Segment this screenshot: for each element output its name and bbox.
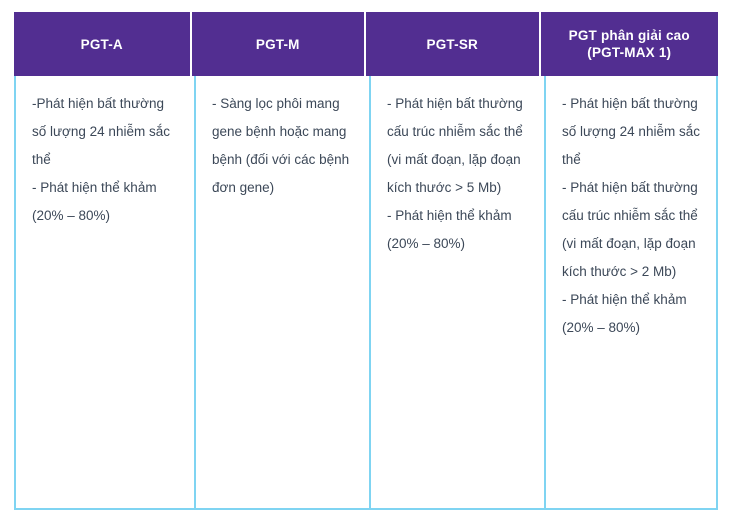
cell-text-pgt-m: - Sàng lọc phôi mang gene bệnh hoặc mang…: [212, 90, 353, 202]
table-cell-pgt-sr-description: - Phát hiện bất thường cấu trúc nhiễm sắ…: [369, 76, 544, 508]
header-label-pgt-sr: PGT-SR: [427, 36, 478, 53]
table-header-cell-pgt-a: PGT-A: [14, 12, 190, 76]
table-cell-pgt-m-description: - Sàng lọc phôi mang gene bệnh hoặc mang…: [194, 76, 369, 508]
table-cell-pgt-a-description: -Phát hiện bất thường số lượng 24 nhiễm …: [16, 76, 194, 508]
table-header-cell-pgt-max: PGT phân giải cao (PGT-MAX 1): [541, 12, 718, 76]
table-body-row: -Phát hiện bất thường số lượng 24 nhiễm …: [14, 76, 718, 510]
cell-text-pgt-max: - Phát hiện bất thường số lượng 24 nhiễm…: [562, 90, 700, 342]
header-label-pgt-max: PGT phân giải cao (PGT-MAX 1): [569, 27, 690, 61]
table-header-cell-pgt-sr: PGT-SR: [366, 12, 539, 76]
table-cell-pgt-max-description: - Phát hiện bất thường số lượng 24 nhiễm…: [544, 76, 716, 508]
table-header-row: PGT-A PGT-M PGT-SR PGT phân giải cao (PG…: [14, 12, 718, 76]
header-label-pgt-a: PGT-A: [81, 36, 123, 53]
cell-text-pgt-a: -Phát hiện bất thường số lượng 24 nhiễm …: [32, 90, 178, 230]
cell-text-pgt-sr: - Phát hiện bất thường cấu trúc nhiễm sắ…: [387, 90, 528, 258]
pgt-comparison-table: PGT-A PGT-M PGT-SR PGT phân giải cao (PG…: [14, 12, 718, 510]
header-label-pgt-m: PGT-M: [256, 36, 300, 53]
table-header-cell-pgt-m: PGT-M: [192, 12, 365, 76]
